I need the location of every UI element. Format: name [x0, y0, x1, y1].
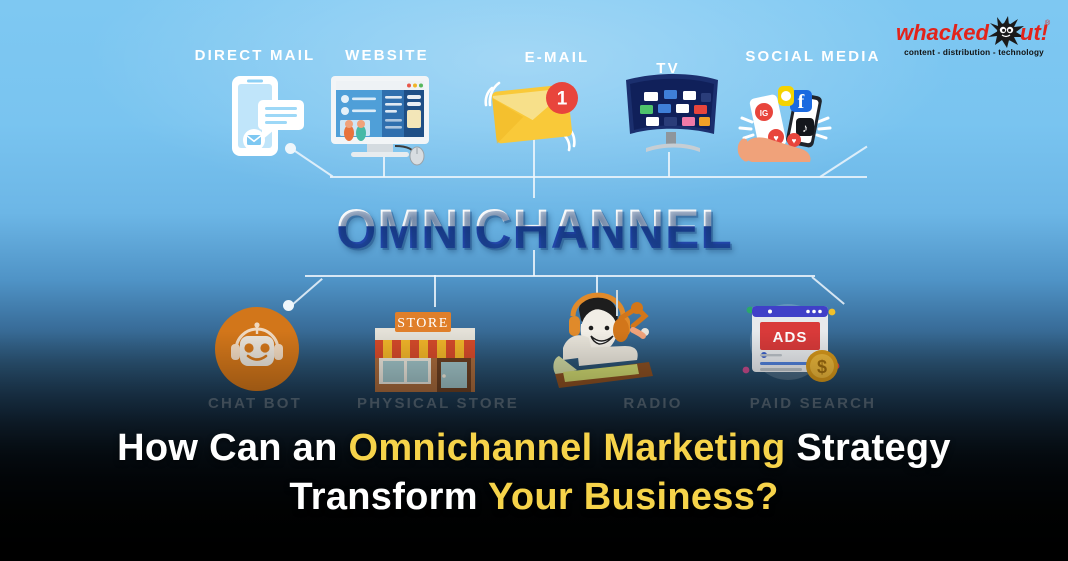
- logo-word-a: whacked: [896, 20, 989, 45]
- connector-bus-bottom: [305, 275, 815, 277]
- infographic-banner: DIRECT MAIL WEBSITE E-MAIL TV SOCIAL MED…: [0, 0, 1068, 561]
- svg-text:IG: IG: [760, 109, 768, 118]
- headline-line-1: How Can an Omnichannel Marketing Strateg…: [0, 424, 1068, 473]
- channel-label-radio: RADIO: [598, 395, 708, 412]
- channel-label-social-media: SOCIAL MEDIA: [728, 48, 898, 65]
- logo-wordmark: whacked ut! ®: [894, 14, 1054, 48]
- logo-registered-mark: ®: [1045, 19, 1051, 27]
- svg-text:f: f: [798, 91, 805, 113]
- headline-line-2: Transform Your Business?: [0, 473, 1068, 522]
- headline-highlight-2: Your Business?: [488, 476, 779, 518]
- ads-banner-text: ADS: [773, 329, 808, 346]
- connector-stem-upper: [533, 176, 535, 198]
- svg-text:♥: ♥: [792, 137, 797, 146]
- headline: How Can an Omnichannel Marketing Strateg…: [0, 424, 1068, 522]
- coin-symbol: $: [817, 357, 827, 377]
- svg-text:♪: ♪: [802, 121, 808, 135]
- browser-ads-coin-icon: ADS $: [736, 292, 848, 390]
- mobile-message-envelope-icon: [216, 74, 312, 160]
- radio-host-microphone-icon: [533, 286, 665, 394]
- connector-diagonal-bottom-left: [291, 278, 323, 306]
- headline-highlight-1: Omnichannel Marketing: [348, 427, 785, 469]
- channel-label-direct-mail: DIRECT MAIL: [175, 47, 335, 64]
- desktop-monitor-icon: [329, 76, 437, 164]
- channel-label-chat-bot: CHAT BOT: [185, 395, 325, 412]
- headline-part-1a: How Can an: [117, 427, 348, 469]
- logo-word-b: ut!: [1020, 20, 1048, 45]
- headline-part-2a: Transform: [289, 476, 488, 518]
- email-badge-count: 1: [557, 89, 568, 110]
- brand-logo[interactable]: whacked ut! ® content - distribution - t…: [894, 10, 1054, 66]
- store-sign-text: STORE: [397, 316, 449, 331]
- channel-label-email: E-MAIL: [492, 49, 622, 66]
- storefront-icon: STORE: [365, 302, 485, 394]
- channel-label-paid-search: PAID SEARCH: [728, 395, 898, 412]
- chat-bot-robot-icon: [214, 306, 300, 392]
- hand-holding-phones-icon: IG f ♪ ♥ ♥: [732, 70, 838, 162]
- logo-splat-icon: [988, 16, 1024, 48]
- channel-label-physical-store: PHYSICAL STORE: [338, 395, 538, 412]
- channel-label-website: WEBSITE: [322, 47, 452, 64]
- page-title: OMNICHANNEL: [0, 196, 1068, 261]
- headline-part-1c: Strategy: [786, 427, 951, 469]
- envelope-notification-icon: 1: [478, 70, 586, 156]
- curved-smart-tv-icon: [620, 72, 724, 160]
- logo-tagline: content - distribution - technology: [894, 48, 1054, 57]
- connector-bus-top: [330, 176, 867, 178]
